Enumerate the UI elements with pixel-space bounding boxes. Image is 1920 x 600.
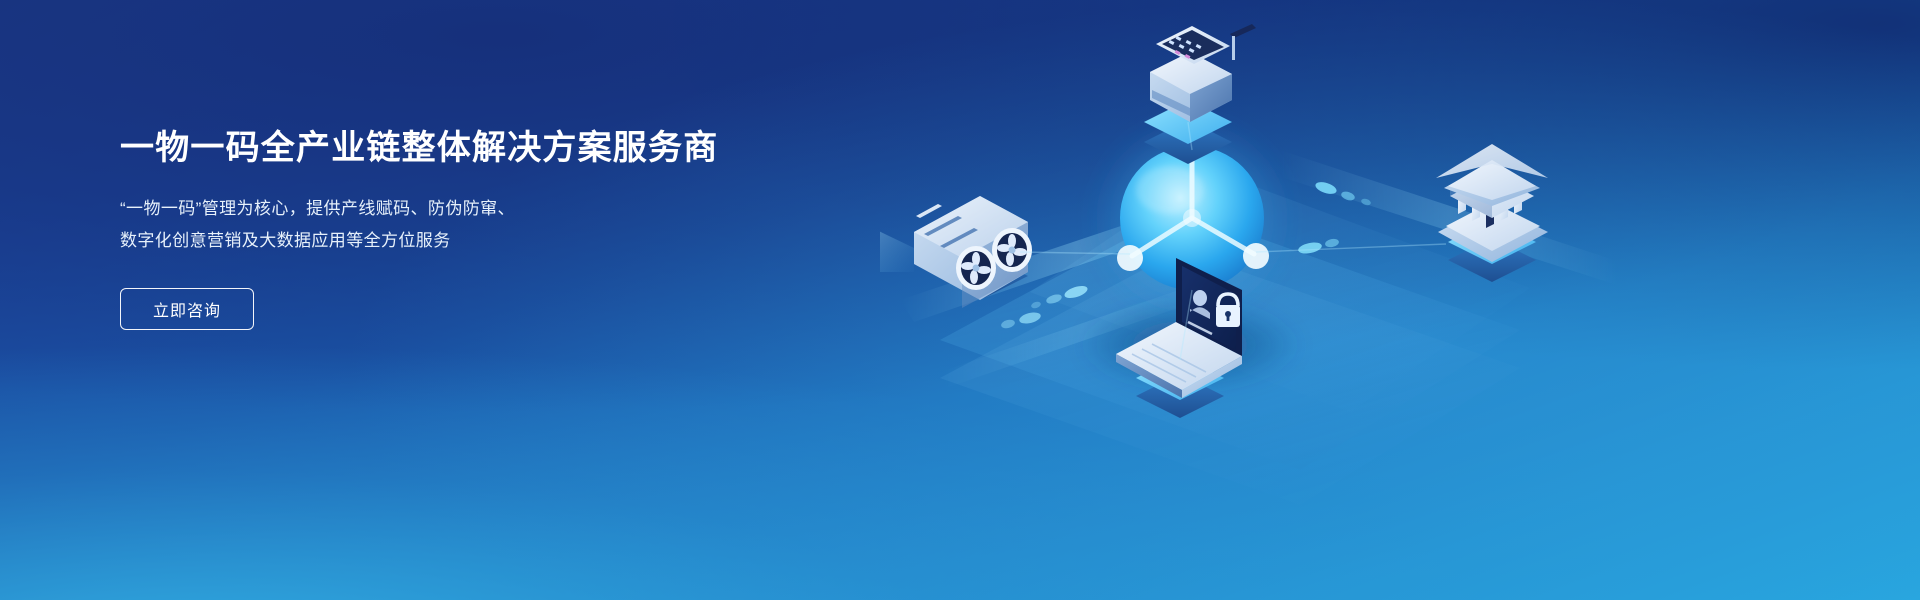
- isometric-illustration: [880, 0, 1640, 600]
- fan-right: [992, 228, 1032, 272]
- hero-subtitle: “一物一码”管理为核心，提供产线赋码、防伪防窜、 数字化创意营销及大数据应用等全…: [120, 193, 680, 256]
- hero-banner: 一物一码全产业链整体解决方案服务商 “一物一码”管理为核心，提供产线赋码、防伪防…: [0, 0, 1920, 600]
- hero-subtitle-line-1: “一物一码”管理为核心，提供产线赋码、防伪防窜、: [120, 193, 680, 224]
- hero-subtitle-line-2: 数字化创意营销及大数据应用等全方位服务: [120, 225, 680, 256]
- scan-cone: [880, 224, 914, 272]
- hero-copy: 一物一码全产业链整体解决方案服务商 “一物一码”管理为核心，提供产线赋码、防伪防…: [120, 128, 880, 330]
- pos-terminal: [1150, 24, 1256, 122]
- page-title: 一物一码全产业链整体解决方案服务商: [120, 128, 880, 169]
- consult-now-button[interactable]: 立即咨询: [120, 288, 254, 330]
- fan-left: [956, 246, 996, 290]
